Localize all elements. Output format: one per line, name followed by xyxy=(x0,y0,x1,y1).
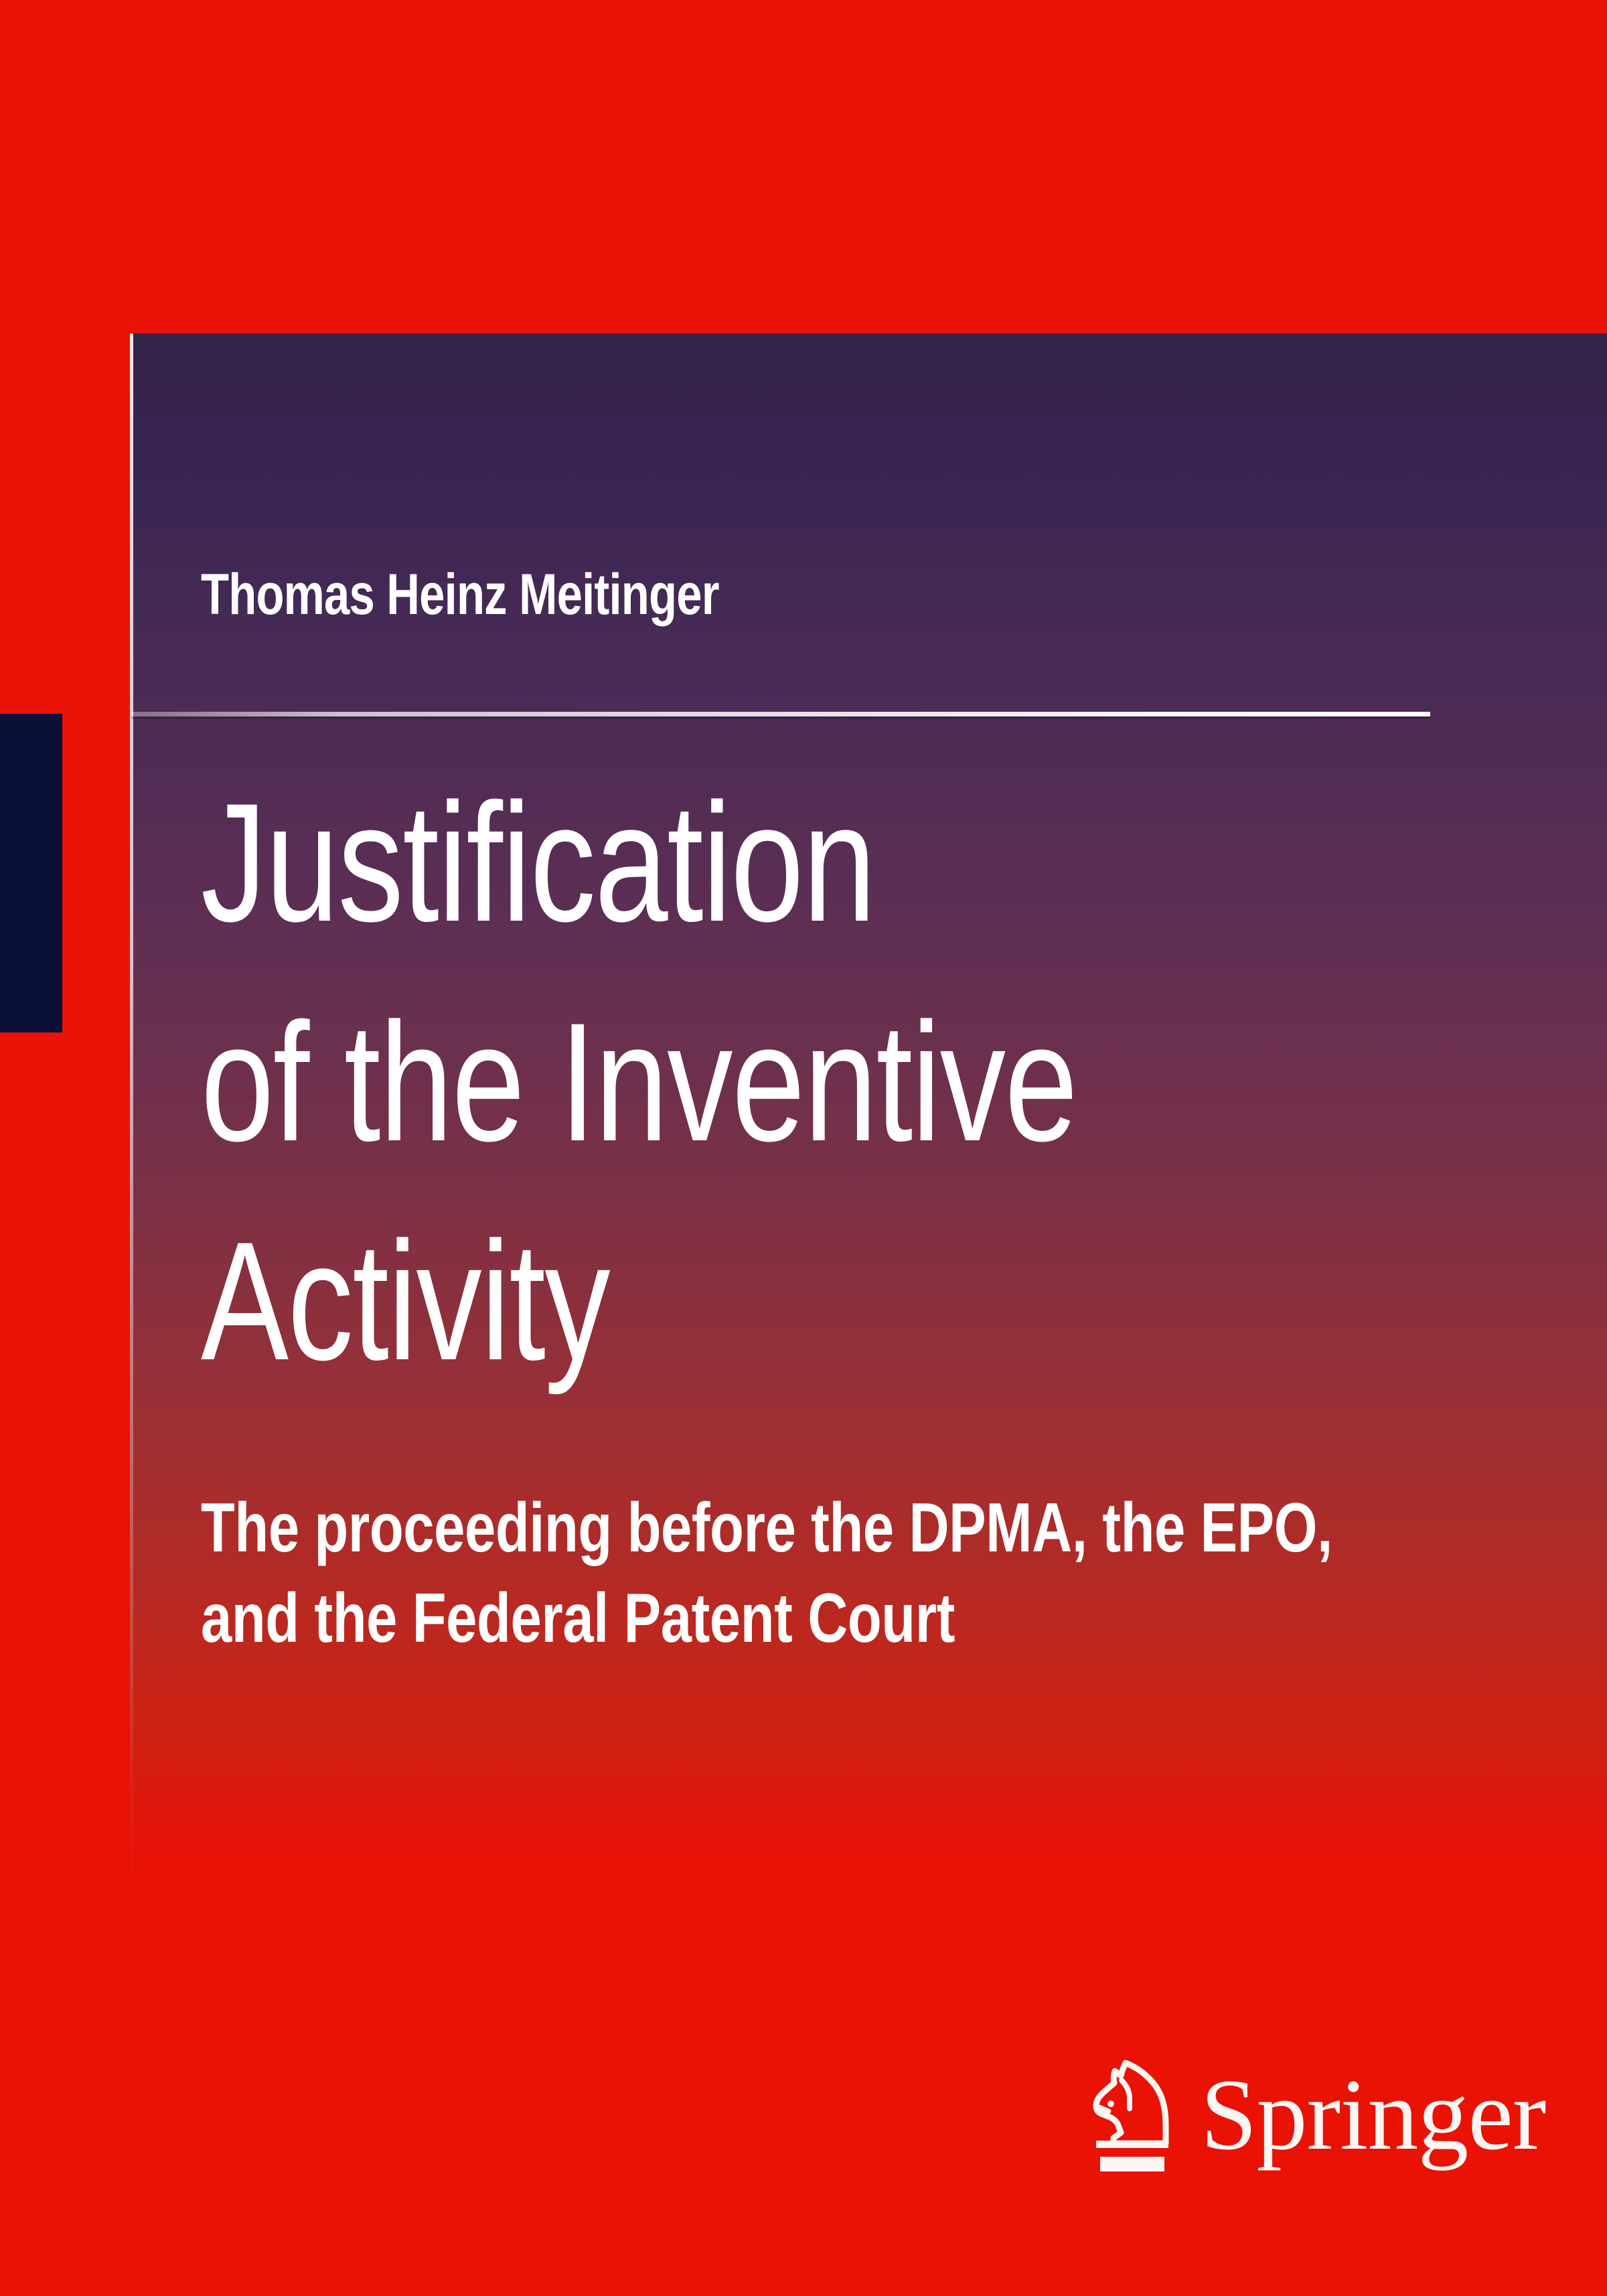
book-cover: Thomas Heinz Meitinger Justification of … xyxy=(0,0,1607,2296)
title-divider-rule xyxy=(131,712,1430,716)
title-line-1: Justification xyxy=(201,753,1245,973)
springer-knight-icon xyxy=(1088,2055,1176,2174)
subtitle-line-2: and the Federal Patent Court xyxy=(201,1574,1299,1664)
gradient-panel-fade xyxy=(130,1808,1607,1915)
springer-logo: Springer xyxy=(1088,2046,1463,2183)
author-name: Thomas Heinz Meitinger xyxy=(201,566,1219,623)
title-line-2: of the Inventive xyxy=(201,973,1245,1193)
book-subtitle: The proceeding before the DPMA, the EPO,… xyxy=(201,1483,1299,1664)
navy-accent-square xyxy=(0,714,62,1032)
springer-wordmark: Springer xyxy=(1201,2064,1545,2165)
panel-left-hairline xyxy=(130,333,133,1908)
title-divider-shadow xyxy=(131,716,1430,719)
title-line-3: Activity xyxy=(201,1192,1245,1411)
book-title: Justification of the Inventive Activity xyxy=(201,753,1245,1411)
subtitle-line-1: The proceeding before the DPMA, the EPO, xyxy=(201,1483,1299,1574)
